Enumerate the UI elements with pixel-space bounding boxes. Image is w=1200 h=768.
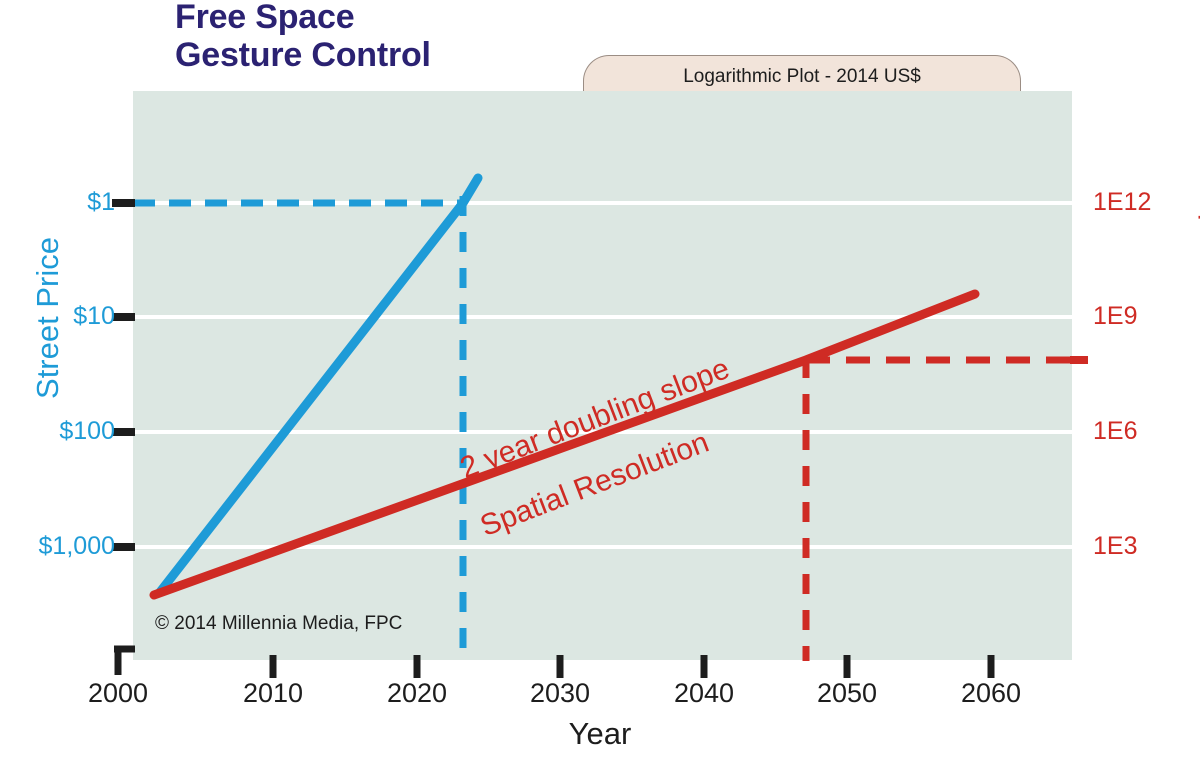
- x-tick-2050: 2050: [787, 678, 907, 709]
- gridline-1e12: [133, 201, 1072, 205]
- plot-mode-tab-label: Logarithmic Plot - 2014 US$: [584, 66, 1020, 88]
- x-tick-2040: 2040: [644, 678, 764, 709]
- y-left-tick-1: $1: [87, 188, 115, 217]
- x-tick-2020: 2020: [357, 678, 477, 709]
- y-right-tick-1e9: 1E9: [1093, 302, 1137, 331]
- y-left-tick-100: $100: [59, 417, 115, 446]
- x-tick-2030: 2030: [500, 678, 620, 709]
- gridline-1e3: [133, 545, 1072, 549]
- x-tick-2000: 2000: [58, 678, 178, 709]
- y-right-tick-1e6: 1E6: [1093, 417, 1137, 446]
- y-left-tick-10: $10: [73, 302, 115, 331]
- x-tick-2010: 2010: [213, 678, 333, 709]
- gridline-1e9: [133, 315, 1072, 319]
- chart-canvas: Free Space Gesture Control Logarithmic P…: [0, 0, 1200, 768]
- y-left-tick-1000: $1,000: [39, 532, 115, 561]
- copyright-notice: © 2014 Millennia Media, FPC: [155, 613, 402, 635]
- y-left-tick-marks: [112, 203, 135, 547]
- y-axis-left-title: Street Price: [30, 208, 66, 428]
- x-axis-title: Year: [0, 716, 1200, 752]
- plot-area: [133, 91, 1072, 660]
- x-tick-2060: 2060: [931, 678, 1051, 709]
- y-right-tick-1e12: 1E12: [1093, 188, 1151, 217]
- y-right-tick-1e3: 1E3: [1093, 532, 1137, 561]
